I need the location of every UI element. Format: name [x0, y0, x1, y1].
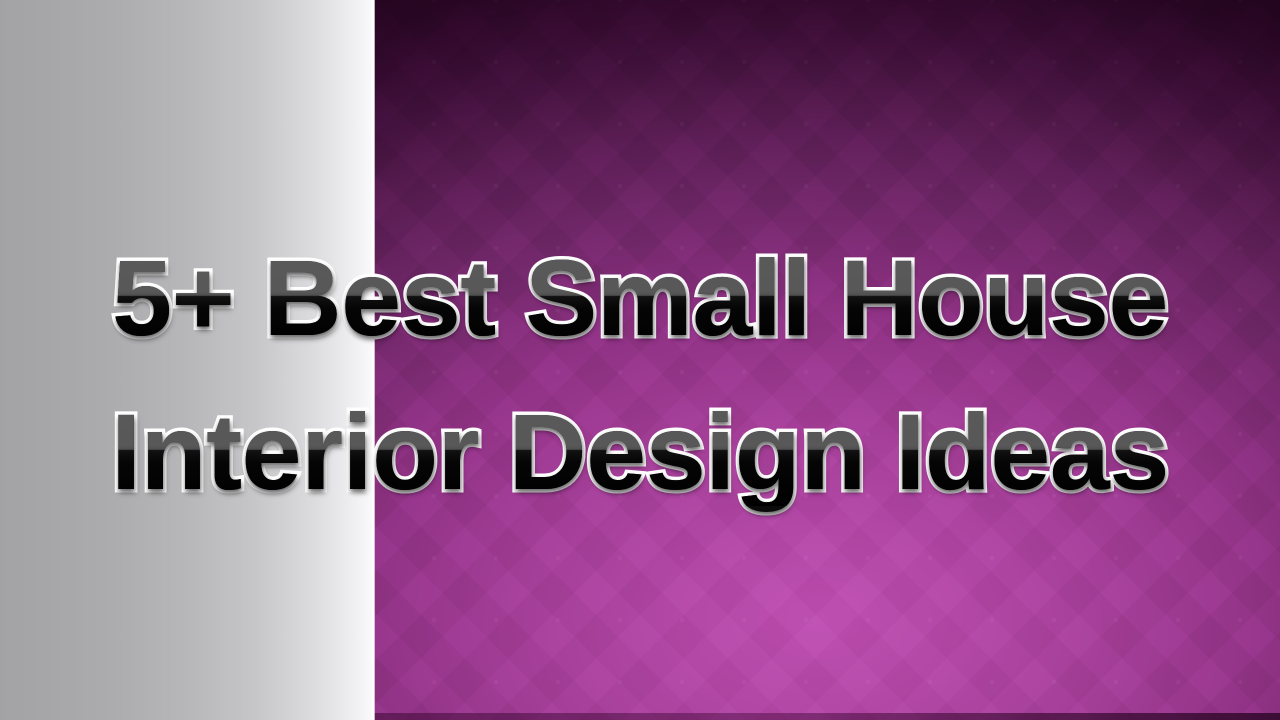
title-slide: 5+ Best Small House 5+ Best Small House … [0, 0, 1280, 720]
panel-divider-line [372, 0, 375, 720]
left-gray-panel [0, 0, 374, 720]
